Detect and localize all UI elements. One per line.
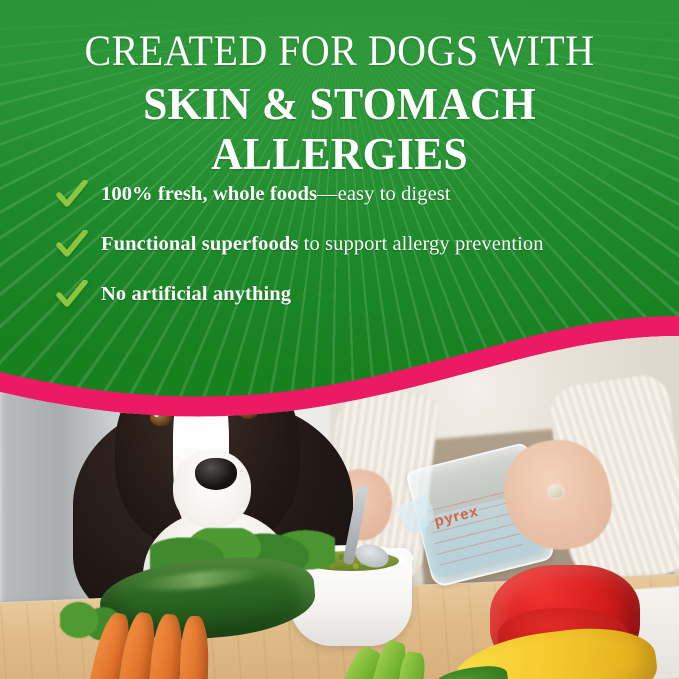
benefit-text-bold: Functional superfoods — [101, 233, 298, 255]
benefit-text-bold: No artificial anything — [101, 283, 291, 305]
list-item: 100% fresh, whole foods—easy to digest — [55, 180, 665, 210]
wedding-ring — [548, 485, 563, 498]
benefit-text-rest: to support allergy prevention — [298, 233, 543, 255]
benefit-text-bold: 100% fresh, whole foods — [101, 183, 317, 205]
benefit-text: No artificial anything — [101, 280, 291, 308]
benefits-list: 100% fresh, whole foods—easy to digest F… — [55, 180, 665, 330]
list-item: Functional superfoods to support allergy… — [55, 230, 665, 260]
benefit-text: 100% fresh, whole foods—easy to digest — [101, 180, 451, 208]
list-item: No artificial anything — [55, 280, 665, 310]
check-icon — [55, 180, 89, 210]
benefit-text: Functional superfoods to support allergy… — [101, 230, 544, 258]
benefit-text-rest: —easy to digest — [317, 183, 451, 205]
promotional-banner: CREATED FOR DOGS WITH SKIN & STOMACH ALL… — [0, 0, 679, 679]
check-icon — [55, 230, 89, 260]
dog-nose — [195, 458, 237, 490]
headline-line-1: CREATED FOR DOGS WITH — [24, 30, 655, 74]
headline-line-2: SKIN & STOMACH ALLERGIES — [17, 79, 662, 178]
headline-block: CREATED FOR DOGS WITH SKIN & STOMACH ALL… — [0, 30, 679, 179]
check-icon — [55, 280, 89, 310]
